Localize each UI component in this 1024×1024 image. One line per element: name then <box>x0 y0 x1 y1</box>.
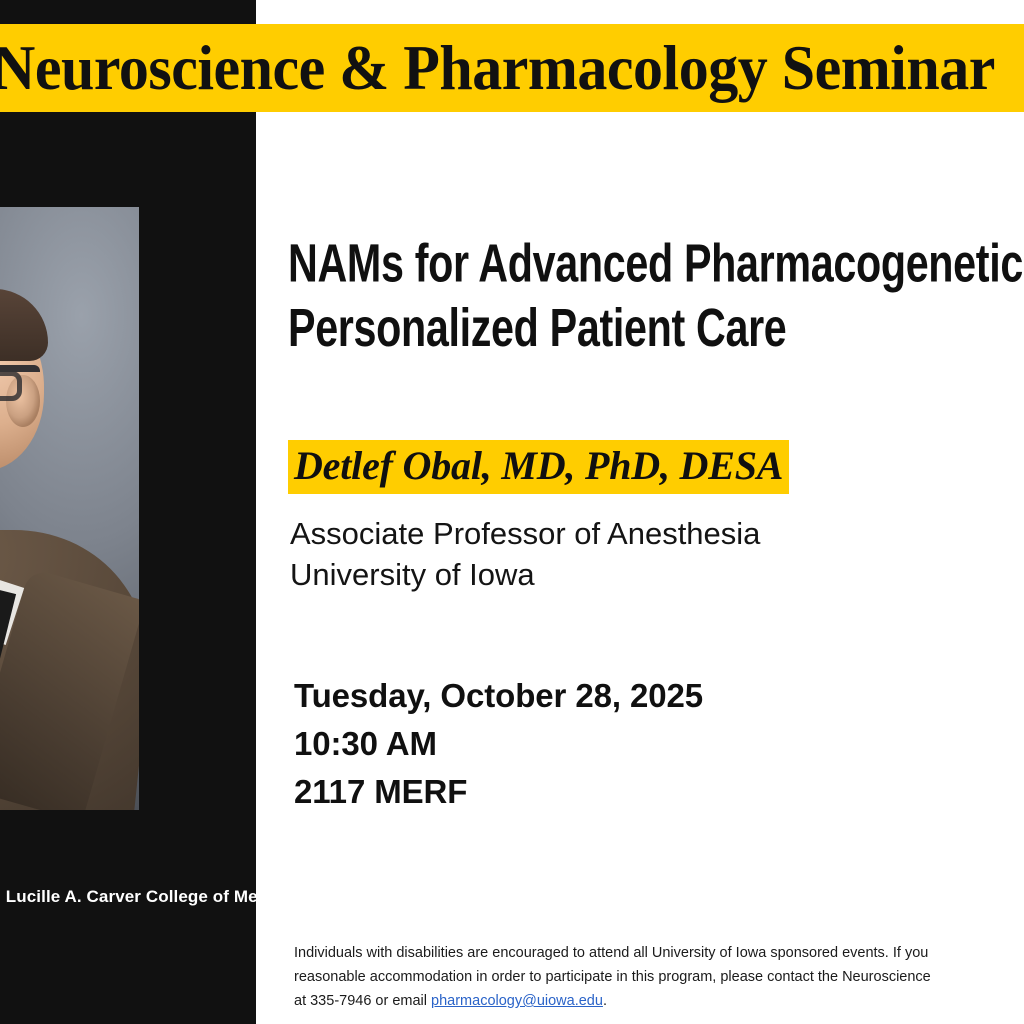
speaker-name: Detlef Obal, MD, PhD, DESA <box>288 440 789 494</box>
college-caption-line-1: Roy J. and Lucille A. Carver College <box>0 887 208 906</box>
accessibility-disclaimer: Individuals with disabilities are encour… <box>294 941 1024 1013</box>
affiliation-line-2: University of Iowa <box>290 554 760 595</box>
event-location: 2117 MERF <box>294 768 703 816</box>
talk-title-line-1: NAMs for Advanced Pharmacogenetics and <box>288 232 1024 297</box>
disclaimer-line-2: reasonable accommodation in order to par… <box>294 965 1024 989</box>
contact-email-link[interactable]: pharmacology@uiowa.edu <box>431 993 603 1009</box>
college-caption: Roy J. and Lucille A. Carver College of … <box>0 884 174 909</box>
speaker-photo <box>0 207 139 810</box>
disclaimer-line-3: at 335-7946 or email pharmacology@uiowa.… <box>294 989 1024 1013</box>
speaker-affiliation: Associate Professor of Anesthesia Univer… <box>290 513 760 595</box>
event-date: Tuesday, October 28, 2025 <box>294 672 703 720</box>
disclaimer-line-3-suffix: . <box>603 993 607 1009</box>
affiliation-line-1: Associate Professor of Anesthesia <box>290 513 760 554</box>
event-details: Tuesday, October 28, 2025 10:30 AM 2117 … <box>294 672 703 816</box>
talk-title-line-2: Personalized Patient Care <box>288 297 1024 362</box>
talk-title: NAMs for Advanced Pharmacogenetics and P… <box>288 232 1024 362</box>
speaker-name-container: Detlef Obal, MD, PhD, DESA <box>288 440 789 494</box>
eyeglasses-icon <box>0 365 40 394</box>
disclaimer-line-1: Individuals with disabilities are encour… <box>294 941 1024 965</box>
event-time: 10:30 AM <box>294 720 703 768</box>
disclaimer-line-3-prefix: at 335-7946 or email <box>294 993 431 1009</box>
seminar-poster: Roy J. and Lucille A. Carver College of … <box>0 0 1024 1024</box>
content-column: NAMs for Advanced Pharmacogenetics and P… <box>288 0 1024 1024</box>
